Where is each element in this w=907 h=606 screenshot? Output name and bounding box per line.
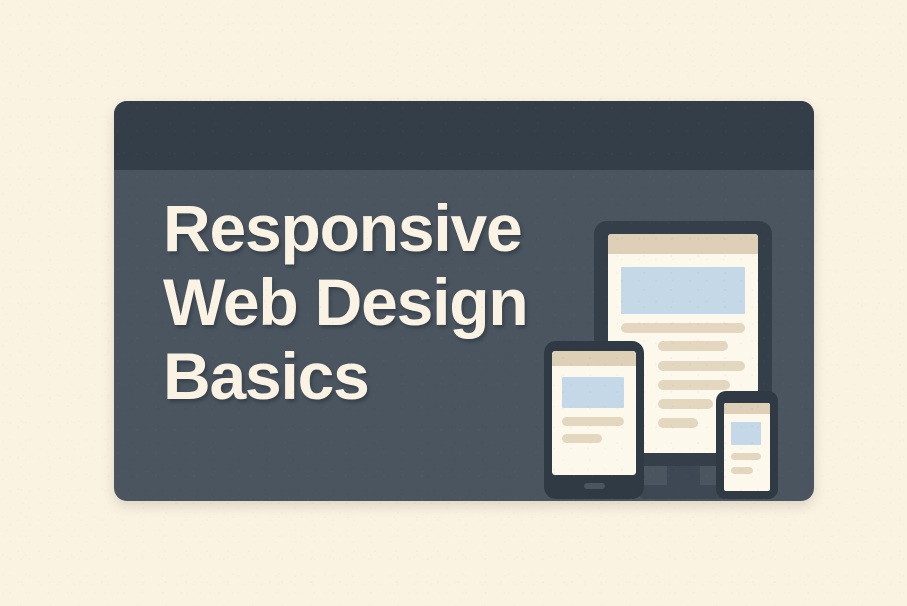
monitor-text-line	[658, 361, 745, 371]
monitor-text-line	[658, 399, 713, 409]
tablet-text-line	[562, 434, 602, 443]
phone-text-line	[731, 467, 753, 474]
phone-hero-block	[731, 422, 761, 445]
monitor-text-line	[621, 323, 745, 333]
title-line-2: Web Design	[163, 265, 528, 339]
title-line-1: Responsive	[163, 191, 528, 265]
monitor-text-line	[658, 341, 728, 351]
hero-card: Responsive Web Design Basics	[114, 101, 814, 501]
phone-text-line	[731, 453, 761, 460]
tablet-text-line	[562, 417, 624, 426]
title-line-3: Basics	[163, 339, 528, 413]
monitor-screen-header-bar	[608, 234, 758, 254]
monitor-text-line	[658, 380, 730, 390]
tablet-home-button	[584, 483, 605, 489]
tablet-hero-block	[562, 377, 624, 408]
phone-screen	[724, 403, 770, 491]
card-top-bar	[114, 101, 814, 170]
phone-screen-header-bar	[724, 403, 770, 414]
tablet-screen-header-bar	[552, 351, 636, 366]
tablet-screen	[552, 351, 636, 475]
monitor-hero-block	[621, 267, 745, 314]
page-title: Responsive Web Design Basics	[163, 191, 528, 413]
monitor-text-line	[658, 418, 698, 428]
responsive-devices-illustration	[544, 221, 814, 501]
